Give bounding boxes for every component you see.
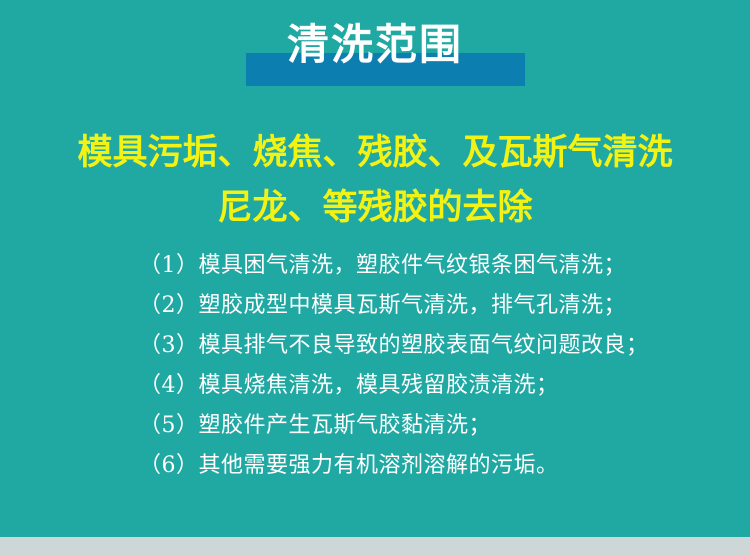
list-item: （6）其他需要强力有机溶剂溶解的污垢。: [139, 446, 699, 486]
headline-section: 模具污垢、烧焦、残胶、及瓦斯气清洗 尼龙、等残胶的去除: [0, 126, 750, 236]
list-item: （4）模具烧焦清洗，模具残留胶渍清洗；: [139, 366, 699, 406]
poster-root: 清洗范围 模具污垢、烧焦、残胶、及瓦斯气清洗 尼龙、等残胶的去除 （1）模具困气…: [0, 0, 750, 555]
headline-line-1: 模具污垢、烧焦、残胶、及瓦斯气清洗: [0, 126, 750, 181]
list-item: （1）模具困气清洗，塑胶件气纹银条困气清洗；: [139, 246, 699, 286]
scope-list: （1）模具困气清洗，塑胶件气纹银条困气清洗； （2）塑胶成型中模具瓦斯气清洗，排…: [139, 246, 699, 486]
header-section: 清洗范围: [0, 0, 750, 100]
list-item: （5）塑胶件产生瓦斯气胶黏清洗；: [139, 406, 699, 446]
headline-line-2: 尼龙、等残胶的去除: [0, 181, 750, 236]
list-item: （2）塑胶成型中模具瓦斯气清洗，排气孔清洗；: [139, 286, 699, 326]
page-title: 清洗范围: [0, 21, 750, 69]
list-item: （3）模具排气不良导致的塑胶表面气纹问题改良；: [139, 326, 699, 366]
bottom-strip: [0, 537, 750, 555]
